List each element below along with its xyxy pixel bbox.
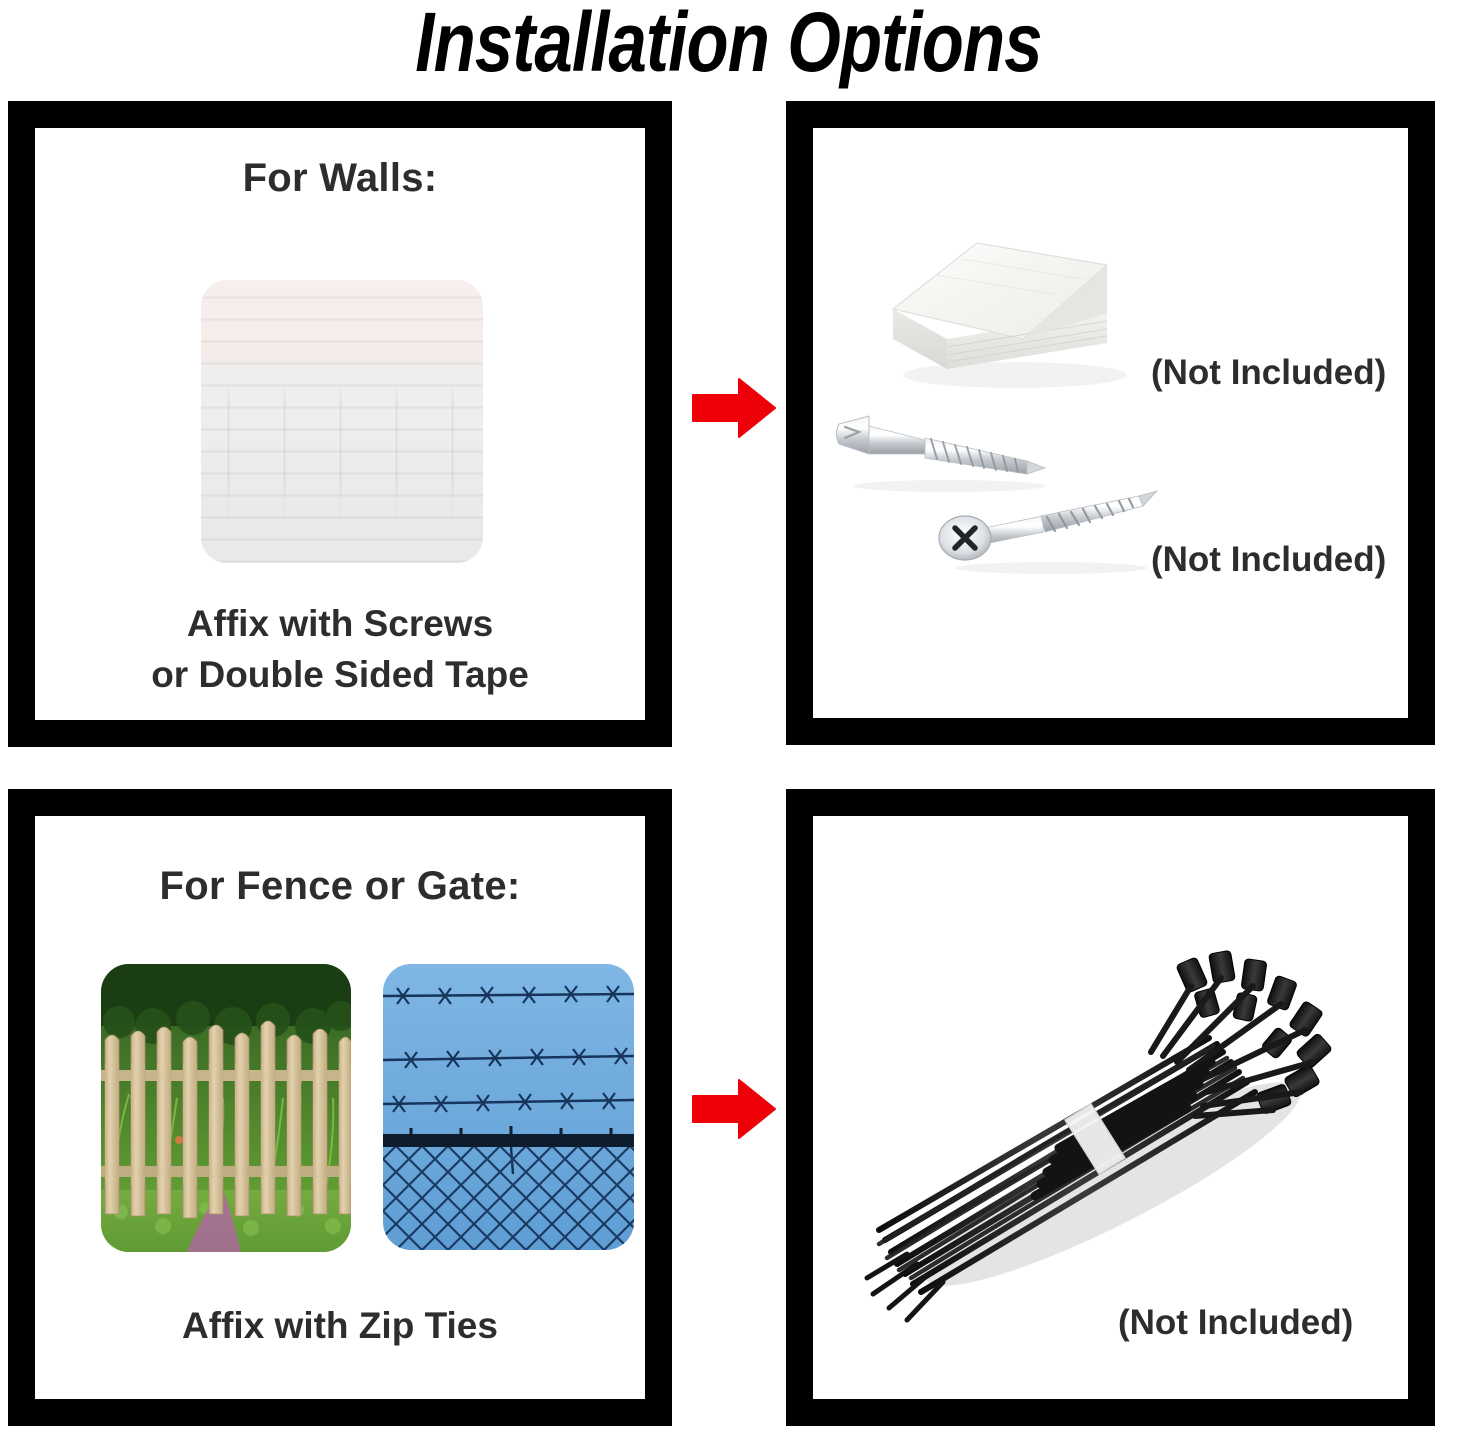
heading-for-walls: For Walls:	[35, 156, 645, 201]
panel-for-walls-inner: For Walls: Affix with Screws or Double S…	[35, 128, 645, 720]
heading-for-fence-or-gate: For Fence or Gate:	[35, 864, 645, 909]
phillips-wood-screw-icon	[933, 486, 1169, 578]
caption-line-1: Affix with Screws	[35, 598, 645, 649]
caption-affix-walls: Affix with Screws or Double Sided Tape	[35, 598, 645, 700]
panel-hardware: (Not Included) (Not Included)	[786, 101, 1435, 745]
panel-hardware-inner: (Not Included) (Not Included)	[813, 128, 1408, 718]
red-right-arrow-icon	[692, 1078, 776, 1140]
zip-ties-not-included-label: (Not Included)	[1118, 1303, 1353, 1343]
wood-screw-icon	[831, 406, 1067, 498]
panel-zip-ties-inner: (Not Included)	[813, 816, 1408, 1399]
barbed-wire-chain-link-photo	[383, 964, 634, 1250]
caption-affix-zip-ties: Affix with Zip Ties	[35, 1300, 645, 1351]
tape-not-included-label: (Not Included)	[1151, 353, 1386, 393]
panel-for-fence-inner: For Fence or Gate:	[35, 816, 645, 1399]
screw-not-included-label: (Not Included)	[1151, 540, 1386, 580]
infographic-root: Installation Options For Walls: Affix wi…	[0, 0, 1457, 1434]
caption-line-2: or Double Sided Tape	[35, 649, 645, 700]
panel-for-walls: For Walls: Affix with Screws or Double S…	[8, 101, 672, 747]
red-right-arrow-icon	[692, 377, 776, 439]
panel-zip-ties: (Not Included)	[786, 789, 1435, 1426]
double-sided-tape-stack-icon	[875, 223, 1143, 393]
panel-for-fence-or-gate: For Fence or Gate:	[8, 789, 672, 1426]
page-title: Installation Options	[131, 0, 1326, 91]
zip-ties-bundle-icon	[851, 934, 1371, 1334]
picket-fence-photo	[101, 964, 351, 1252]
white-brick-wall-photo	[201, 280, 483, 563]
